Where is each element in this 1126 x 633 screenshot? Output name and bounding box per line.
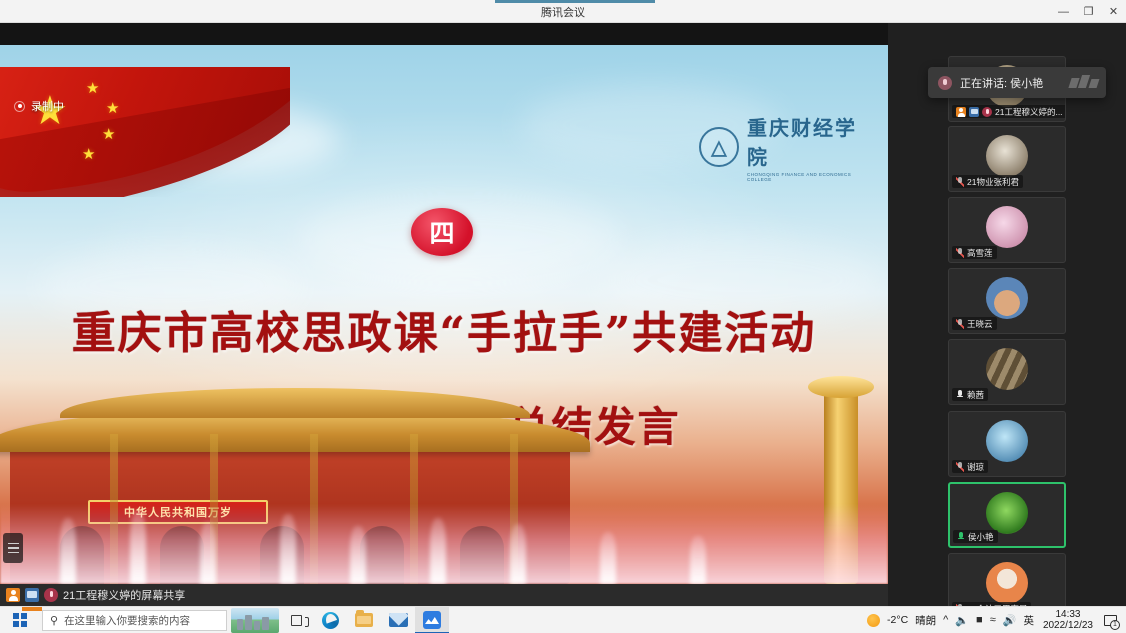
- system-tray: -2°C 晴朗 ^ 🔈 ■ ≈ 🔊 英 14:33 2022/12/23 1: [867, 607, 1126, 633]
- battery-icon[interactable]: ■: [976, 614, 983, 626]
- microphone-muted-icon: [956, 462, 964, 472]
- flag-star-icon: ★: [102, 127, 115, 142]
- microphone-icon[interactable]: 🔈: [955, 614, 969, 627]
- app-flash-indicator: [22, 607, 42, 611]
- university-logo: △ 重庆财经学院 CHONGQING FINANCE AND ECONOMICS…: [699, 123, 874, 171]
- flag-star-icon: ★: [82, 147, 95, 162]
- volume-icon[interactable]: 🔊: [1003, 614, 1017, 627]
- microphone-icon: [957, 532, 965, 542]
- screen-share-banner: 21工程穆义婷的屏幕共享: [0, 584, 888, 606]
- participant-name: 21工程穆义婷的...: [995, 106, 1063, 118]
- participant-nametag: 王晓云: [952, 317, 997, 330]
- participant-nametag: 21物业张利君: [952, 175, 1023, 188]
- restore-button[interactable]: ❐: [1076, 0, 1101, 23]
- section-number-badge: 四: [411, 208, 473, 256]
- recording-dot-icon: [14, 101, 25, 112]
- participant-name: 王晓云: [967, 318, 993, 330]
- participant-badges: 21工程穆义婷的...: [952, 105, 1066, 118]
- fountain-jet: [510, 524, 526, 584]
- recording-label: 录制中: [31, 98, 64, 114]
- fountain-jet: [200, 522, 216, 584]
- fountain-jet: [280, 514, 296, 584]
- slide-heading-primary: 重庆市高校思政课“手拉手”共建活动: [0, 297, 888, 361]
- tiananmen-gate-graphic: 中华人民共和国万岁: [0, 369, 888, 584]
- gate-roof-upper: [60, 388, 530, 418]
- clock-date: 2022/12/23: [1043, 620, 1093, 632]
- active-speaker-toast: 正在讲话: 侯小艳: [928, 67, 1106, 98]
- tray-weather-condition[interactable]: 晴朗: [915, 613, 936, 628]
- participant-nametag: 高雪莲: [952, 246, 997, 259]
- avatar: [986, 492, 1028, 534]
- search-icon: ⚲: [50, 614, 58, 627]
- user-icon: [956, 107, 966, 117]
- wifi-icon[interactable]: ≈: [990, 614, 996, 626]
- section-number-label: 四: [429, 214, 454, 250]
- screen-share-icon: [25, 588, 39, 602]
- fountain-jet: [130, 510, 146, 584]
- flag-star-icon: ★: [106, 101, 119, 116]
- drag-handle-icon[interactable]: [3, 533, 23, 563]
- avatar: [986, 562, 1028, 604]
- participant-name: 赖茜: [967, 389, 984, 401]
- avatar: [986, 277, 1028, 319]
- search-input[interactable]: ⚲ 在这里输入你要搜索的内容: [42, 610, 227, 631]
- notification-count: 1: [1110, 620, 1120, 630]
- participant-tile[interactable]: 21物业张利君: [948, 126, 1066, 192]
- microphone-icon: [982, 107, 992, 117]
- wecom-icon[interactable]: [415, 607, 449, 633]
- university-name-cn: 重庆财经学院: [747, 112, 874, 170]
- screen-share-label: 21工程穆义婷的屏幕共享: [63, 587, 185, 603]
- task-view-icon[interactable]: [279, 607, 313, 633]
- microphone-icon: [938, 76, 952, 90]
- sun-icon: [867, 614, 880, 627]
- participant-nametag: 赖茜: [952, 388, 988, 401]
- windows-taskbar[interactable]: ⚲ 在这里输入你要搜索的内容 -2°C 晴朗 ^ 🔈 ■ ≈ 🔊 英 14:33…: [0, 606, 1126, 633]
- notification-icon[interactable]: 1: [1100, 607, 1120, 633]
- presentation-slide: ★ ★ ★ ★ ★ △ 重庆财经学院 CHONGQING FINANCE AND…: [0, 45, 888, 584]
- recording-indicator: 录制中: [14, 98, 64, 114]
- mail-icon[interactable]: [381, 607, 415, 633]
- screen-share-icon: [969, 107, 979, 117]
- university-emblem-icon: △: [699, 127, 739, 167]
- user-icon: [6, 588, 20, 602]
- search-placeholder: 在这里输入你要搜索的内容: [64, 613, 190, 628]
- avatar: [986, 206, 1028, 248]
- shared-screen-stage[interactable]: ★ ★ ★ ★ ★ △ 重庆财经学院 CHONGQING FINANCE AND…: [0, 45, 888, 584]
- active-speaker-label: 正在讲话: 侯小艳: [960, 75, 1043, 91]
- meeting-window: ★ ★ ★ ★ ★ △ 重庆财经学院 CHONGQING FINANCE AND…: [0, 23, 1126, 606]
- participant-name: 高雪莲: [967, 247, 993, 259]
- fountain-jet: [60, 518, 76, 584]
- participant-tile-active-speaker[interactable]: 侯小艳: [948, 482, 1066, 548]
- golden-column-cap: [808, 376, 874, 398]
- fountain-jet: [690, 536, 706, 584]
- avatar: [986, 135, 1028, 177]
- participant-tile[interactable]: 22会计五周宇星: [948, 553, 1066, 606]
- file-explorer-icon[interactable]: [347, 607, 381, 633]
- microphone-muted-icon: [956, 319, 964, 329]
- university-name-en: CHONGQING FINANCE AND ECONOMICS COLLEGE: [747, 172, 874, 182]
- edge-browser-icon[interactable]: [313, 607, 347, 633]
- avatar: [986, 348, 1028, 390]
- participant-name: 谢琼: [967, 461, 984, 473]
- microphone-muted-icon: [956, 177, 964, 187]
- flag-star-icon: ★: [86, 81, 99, 96]
- minimize-button[interactable]: —: [1051, 0, 1076, 23]
- taskbar-clock[interactable]: 14:33 2022/12/23: [1043, 609, 1093, 632]
- window-title-bar: 腾讯会议 — ❐ ✕: [0, 0, 1126, 23]
- tray-temperature[interactable]: -2°C: [887, 614, 908, 626]
- fountain-jet: [600, 532, 616, 584]
- audio-wave-icon: [1070, 75, 1098, 88]
- microphone-icon: [956, 390, 964, 400]
- participant-filmstrip[interactable]: 21工程穆义婷的... 21物业张利君 高雪莲 王晓云: [888, 23, 1126, 606]
- weather-widget-icon[interactable]: [231, 608, 279, 633]
- avatar: [986, 420, 1028, 462]
- participant-name: 21物业张利君: [967, 176, 1019, 188]
- window-title: 腾讯会议: [0, 0, 1126, 23]
- participant-nametag: 侯小艳: [953, 530, 998, 543]
- participant-nametag: 谢琼: [952, 460, 988, 473]
- window-controls: — ❐ ✕: [1051, 0, 1126, 23]
- ime-indicator[interactable]: 英: [1023, 613, 1034, 628]
- close-button[interactable]: ✕: [1101, 0, 1126, 23]
- microphone-icon: [44, 588, 58, 602]
- fountain-jet: [350, 526, 366, 584]
- participant-tile[interactable]: 王晓云: [948, 268, 1066, 334]
- fountain-jet: [430, 518, 446, 584]
- participant-name: 侯小艳: [968, 531, 994, 543]
- participant-tile[interactable]: 谢琼: [948, 411, 1066, 477]
- participant-tile[interactable]: 高雪莲: [948, 197, 1066, 263]
- chinese-flag-graphic: ★ ★ ★ ★ ★: [0, 67, 290, 197]
- chevron-up-icon[interactable]: ^: [943, 614, 948, 626]
- participant-tile[interactable]: 赖茜: [948, 339, 1066, 405]
- microphone-muted-icon: [956, 248, 964, 258]
- clock-time: 14:33: [1055, 609, 1080, 621]
